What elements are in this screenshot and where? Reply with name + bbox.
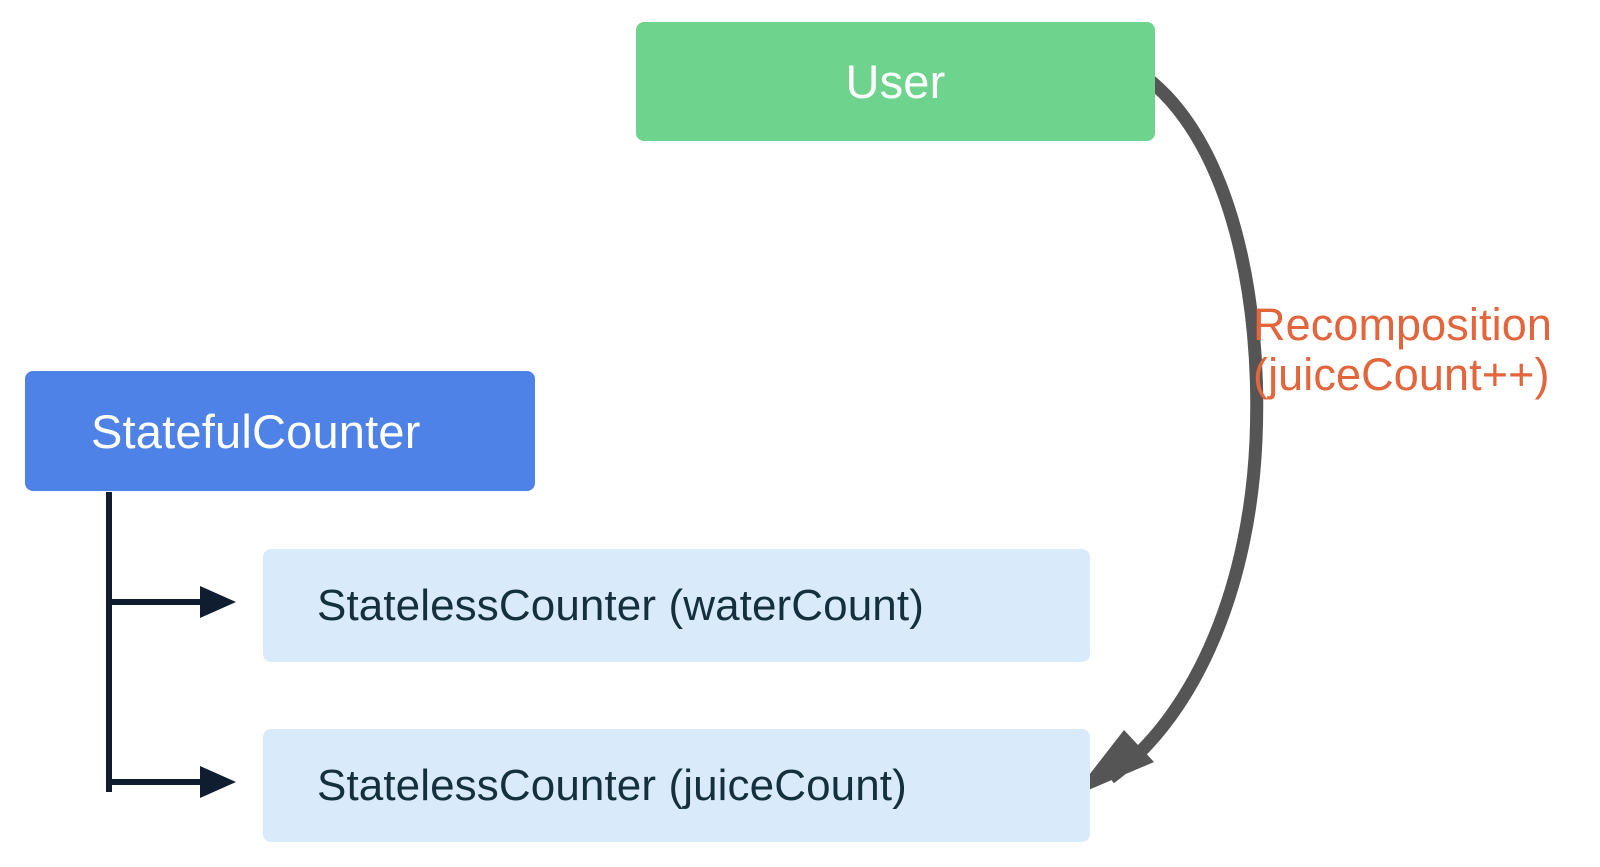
recomposition-annotation-line-1: Recomposition <box>1253 300 1552 350</box>
node-stateless-counter-water-label: StatelessCounter (waterCount) <box>317 584 924 628</box>
recomposition-arrow <box>1072 79 1257 797</box>
node-stateless-counter-juice-label: StatelessCounter (juiceCount) <box>317 764 907 808</box>
recomposition-annotation: Recomposition (juiceCount++) <box>1253 300 1552 401</box>
node-stateful-counter-label: StatefulCounter <box>91 408 421 455</box>
diagram-canvas: User StatefulCounter StatelessCounter (w… <box>0 0 1600 867</box>
node-user-label: User <box>845 58 945 105</box>
node-stateless-counter-juice: StatelessCounter (juiceCount) <box>263 729 1090 842</box>
tree-branch-juice-arrowhead <box>200 766 236 798</box>
recomposition-annotation-line-2: (juiceCount++) <box>1253 350 1552 400</box>
node-user: User <box>636 22 1155 141</box>
tree-branch-water-arrowhead <box>200 586 236 618</box>
node-stateful-counter: StatefulCounter <box>25 371 535 491</box>
tree-connectors <box>109 492 236 798</box>
node-stateless-counter-water: StatelessCounter (waterCount) <box>263 549 1090 662</box>
